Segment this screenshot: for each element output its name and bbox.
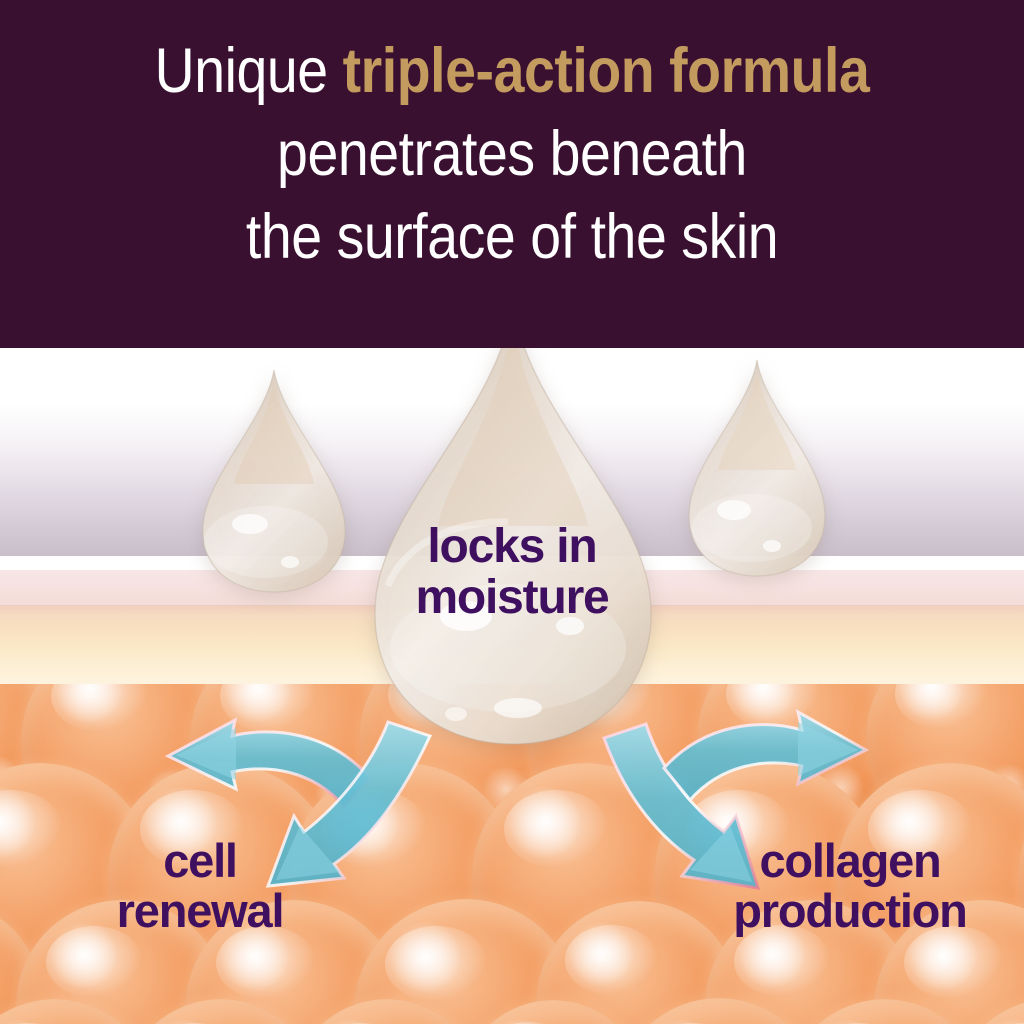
headline-line1-highlight: triple-action formula bbox=[343, 36, 870, 106]
caption-cell-renewal: cell renewal bbox=[40, 836, 360, 936]
headline-line2: penetrates beneath bbox=[61, 113, 962, 196]
headline: Unique triple-action formula penetrates … bbox=[61, 30, 962, 279]
arrow-pointing-right bbox=[664, 712, 866, 800]
headline-line1-plain: Unique bbox=[155, 36, 343, 106]
skincare-infographic: Unique triple-action formula penetrates … bbox=[0, 0, 1024, 1024]
caption-locks-in-moisture: locks in moisture bbox=[332, 522, 692, 624]
caption-collagen-production: collagen production bbox=[690, 836, 1010, 936]
headline-line3: the surface of the skin bbox=[61, 196, 962, 279]
arrow-pointing-left bbox=[168, 720, 370, 806]
header-banner: Unique triple-action formula penetrates … bbox=[0, 0, 1024, 348]
small-serum-droplet-right bbox=[672, 356, 842, 587]
